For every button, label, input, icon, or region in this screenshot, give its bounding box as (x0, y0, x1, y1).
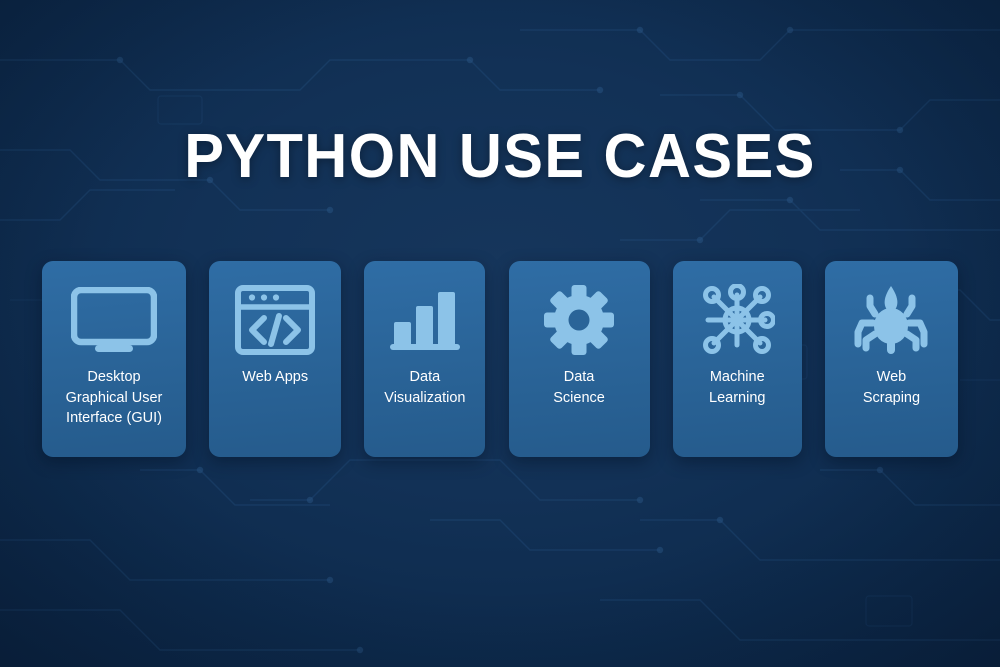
use-case-card-desktop-gui[interactable]: Desktop Graphical User Interface (GUI) (42, 261, 186, 457)
use-case-card-machine-learning[interactable]: Machine Learning (673, 261, 802, 457)
gear-icon (543, 283, 615, 357)
use-case-label: Machine Learning (673, 367, 802, 408)
use-case-label: Desktop Graphical User Interface (GUI) (42, 367, 186, 429)
code-window-icon (235, 283, 315, 357)
use-case-card-data-science[interactable]: Data Science (509, 261, 650, 457)
use-case-label: Data Science (509, 367, 650, 408)
monitor-icon (71, 283, 157, 357)
use-case-card-data-visualization[interactable]: Data Visualization (364, 261, 485, 457)
bar-chart-icon (388, 283, 462, 357)
use-case-label: Data Visualization (364, 367, 485, 408)
spider-icon (854, 283, 928, 357)
use-case-label: Web Apps (209, 367, 341, 388)
use-case-card-web-scraping[interactable]: Web Scraping (825, 261, 958, 457)
network-nodes-icon (699, 283, 775, 357)
poster-canvas: PYTHON USE CASES Desktop Graphical User … (0, 0, 1000, 667)
use-case-label: Web Scraping (825, 367, 958, 408)
page-title: PYTHON USE CASES (20, 126, 980, 188)
use-case-card-row: Desktop Graphical User Interface (GUI) W… (42, 261, 958, 457)
use-case-card-web-apps[interactable]: Web Apps (209, 261, 341, 457)
